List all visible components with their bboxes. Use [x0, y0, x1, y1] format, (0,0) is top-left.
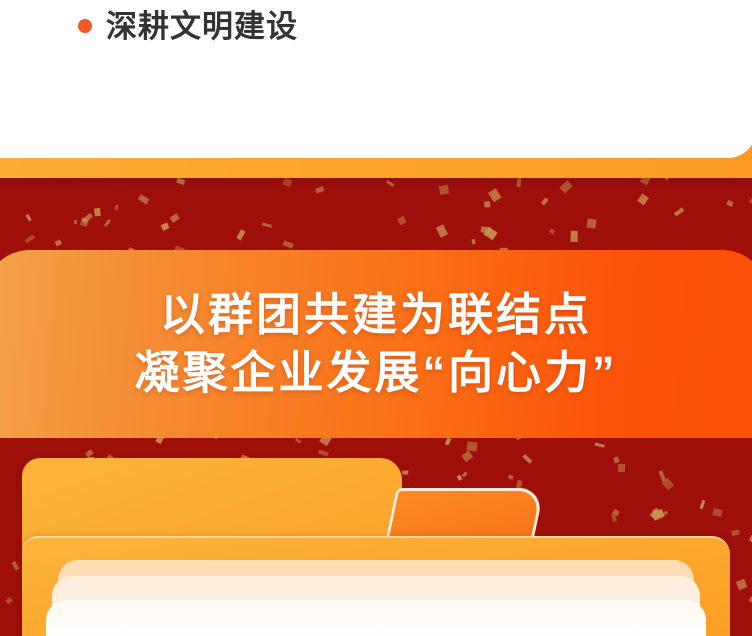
bullet-list: 塑强品牌形象 深耕文明建设	[78, 0, 638, 52]
folder-inner-sheet-3	[46, 600, 706, 636]
headline-line-1: 以群团共建为联结点	[160, 286, 592, 344]
folder-graphic	[22, 458, 730, 636]
headline-line-2: 凝聚企业发展“向心力”	[134, 344, 617, 402]
bullet-item-label: 深耕文明建设	[106, 11, 298, 42]
list-item: 深耕文明建设	[78, 0, 638, 52]
bullet-dot-icon	[78, 19, 92, 33]
poster-canvas: 塑强品牌形象 深耕文明建设 以群团共建为联结点 凝聚企业发展“向心力”	[0, 0, 752, 636]
top-card-panel: 塑强品牌形象 深耕文明建设	[0, 0, 752, 158]
headline-banner: 以群团共建为联结点 凝聚企业发展“向心力”	[0, 250, 752, 438]
